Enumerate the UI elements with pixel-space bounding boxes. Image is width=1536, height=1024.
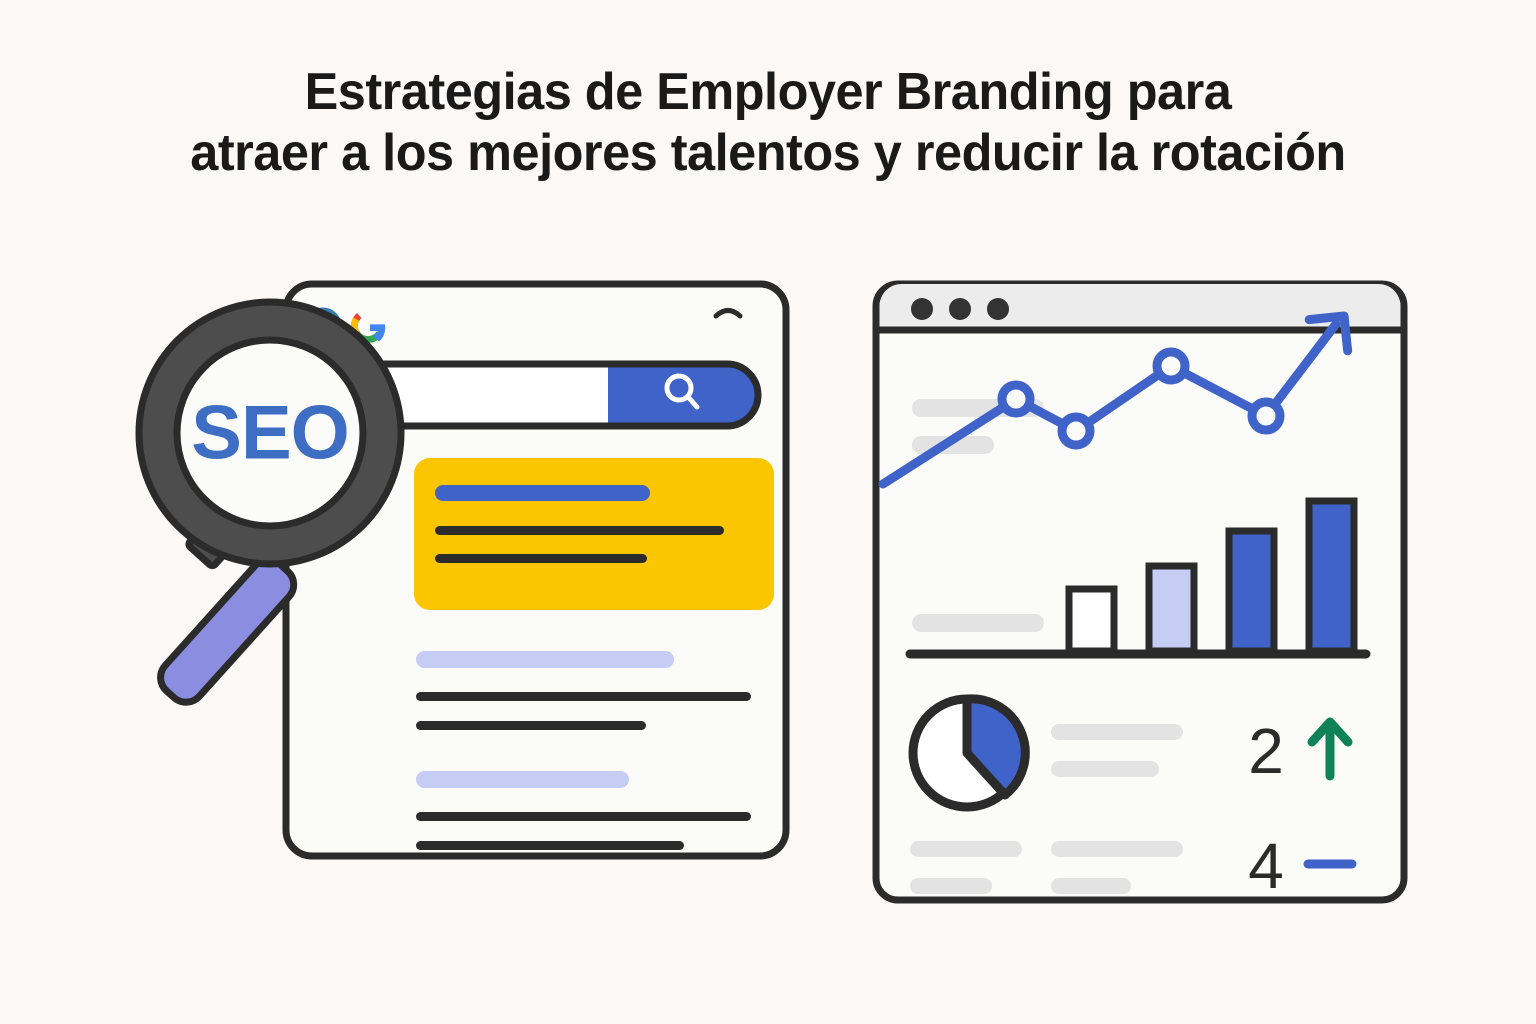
metric-value: 4 [1248,830,1284,902]
placeholder-line [1051,724,1183,740]
result-body-line [416,692,751,701]
trend-marker [1157,352,1185,380]
bar-3 [1229,531,1274,651]
placeholder-line [1051,761,1159,777]
analytics-dashboard-illustration: 2 4 [866,276,1414,916]
page-title-line-1: Estrategias de Employer Branding para [23,62,1513,123]
placeholder-line [912,614,1044,632]
window-dot-close-icon[interactable] [911,298,933,320]
placeholder-line [1051,878,1131,894]
page-title: Estrategias de Employer Branding para at… [23,62,1513,185]
result-body-line [416,721,646,730]
result-title-line [435,485,650,501]
placeholder-line [910,841,1022,857]
seo-search-illustration: SEO [96,276,812,876]
share-pie-chart [913,699,1025,807]
search-submit-button[interactable] [608,362,760,428]
trend-marker [1002,385,1030,413]
result-body-line [435,554,647,563]
placeholder-line [1051,841,1183,857]
bar-2 [1149,566,1194,651]
page-title-line-2: atraer a los mejores talentos y reducir … [23,123,1513,184]
window-dot-minimize-icon[interactable] [949,298,971,320]
result-title-line [416,771,629,788]
metric-value: 2 [1248,715,1284,787]
result-body-line [416,812,751,821]
window-dot-maximize-icon[interactable] [987,298,1009,320]
bar-1 [1069,589,1114,651]
trend-marker [1252,402,1280,430]
trend-marker [1062,417,1090,445]
placeholder-line [910,878,992,894]
illustration-canvas: Estrategias de Employer Branding para at… [0,0,1536,1024]
result-title-line [416,651,674,668]
result-body-line [416,841,684,850]
highlighted-result-card[interactable] [414,458,774,610]
bar-4 [1309,501,1354,651]
magnifier-handle [153,552,301,709]
result-body-line [435,526,724,535]
magnifier-seo-label: SEO [191,391,349,476]
